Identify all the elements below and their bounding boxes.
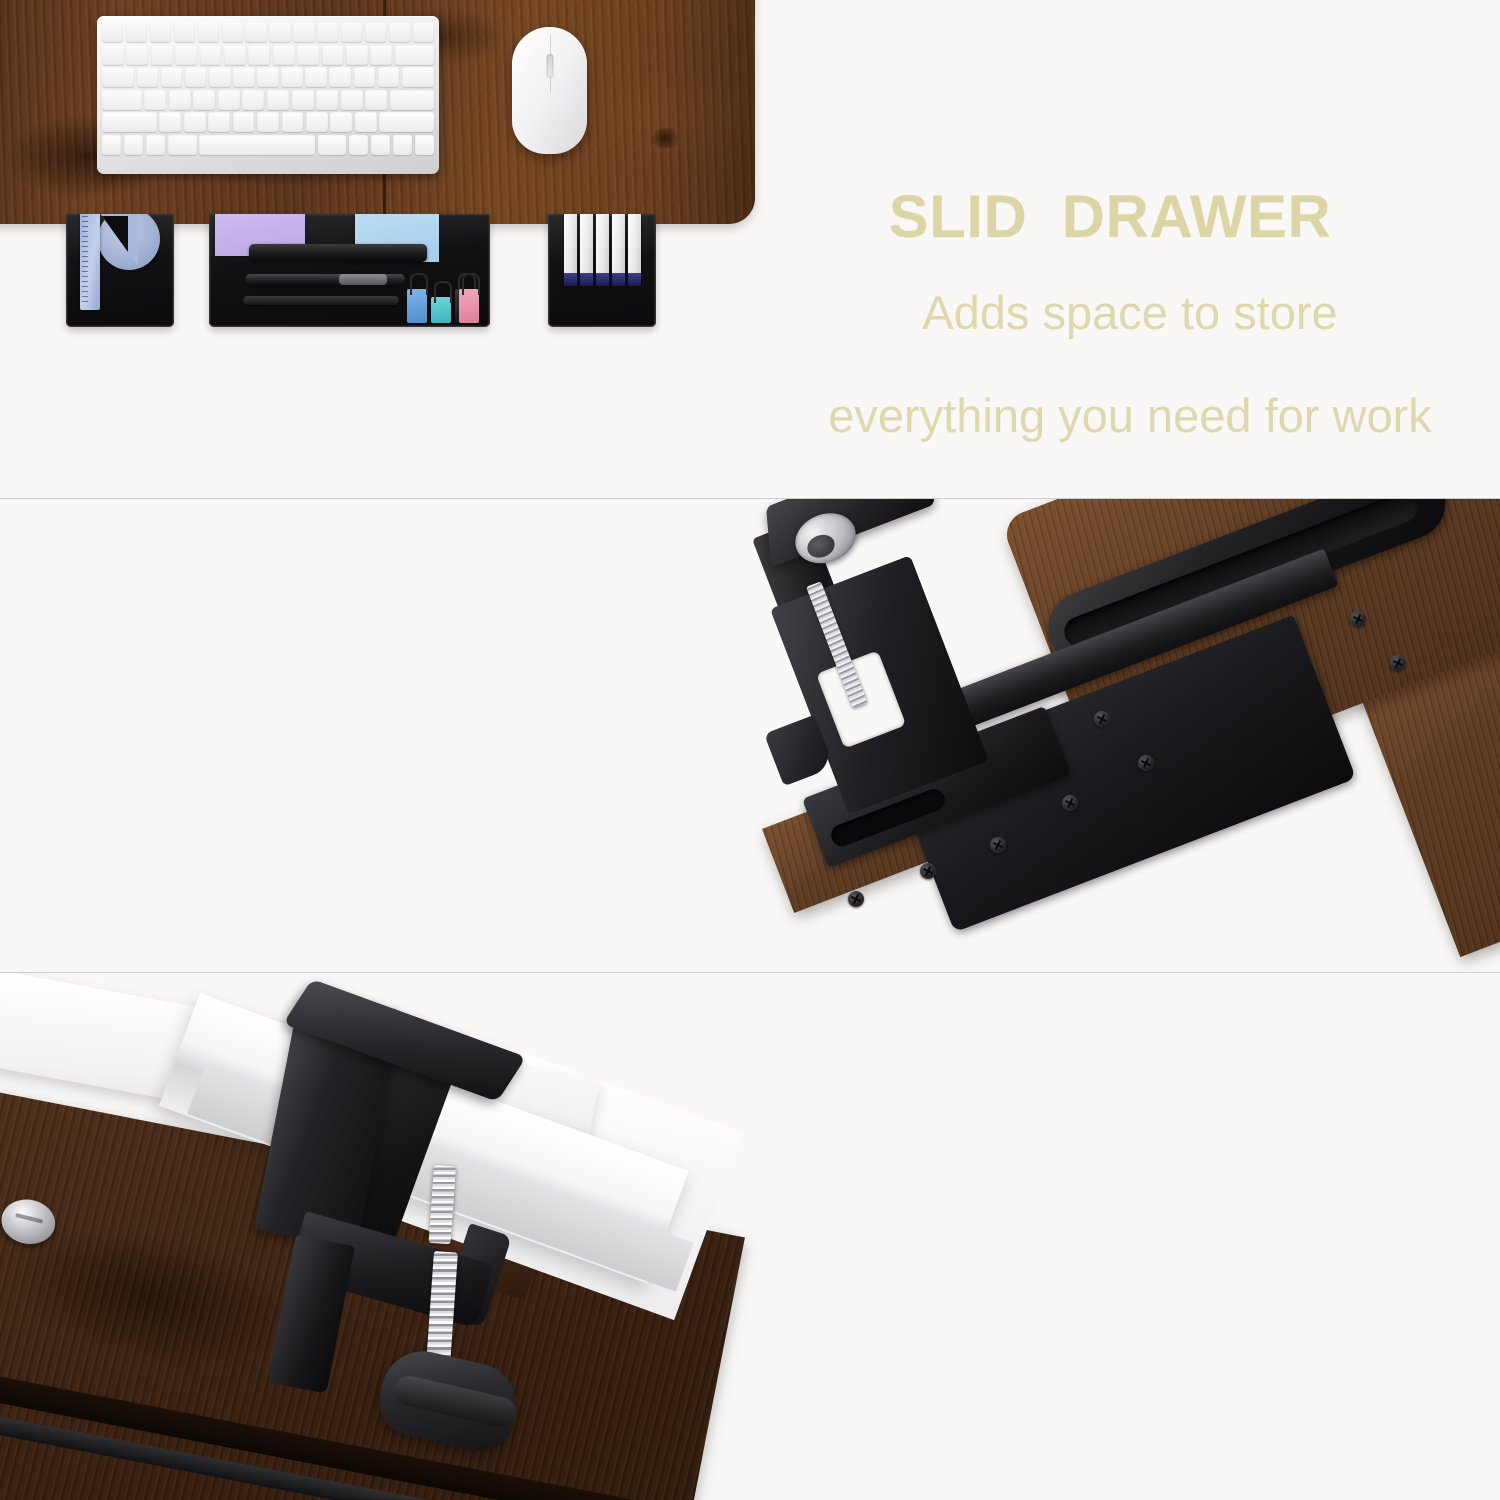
set-square-cutout — [102, 216, 128, 252]
clip-arm — [410, 273, 428, 295]
binder-clip-blue — [407, 289, 427, 323]
keyboard-row — [102, 112, 434, 132]
wood-knot — [648, 128, 682, 148]
product-feature-collage: SLID DRAWER Adds space to store everythi… — [0, 0, 1500, 1500]
desk-topview-photo — [0, 0, 760, 360]
phillips-screw — [1138, 755, 1154, 771]
keyboard-row — [102, 67, 434, 87]
white-marker — [596, 214, 609, 286]
keyboard-row — [102, 135, 434, 155]
panel-clamp-mount: C CLAMP MOUNT Easy to install No tools r… — [0, 973, 1500, 1500]
subline-slid-drawer-1: Adds space to store — [760, 277, 1500, 350]
phillips-screw — [920, 863, 936, 879]
phillips-screw — [990, 837, 1006, 853]
phillips-screw — [848, 891, 864, 907]
black-pen — [249, 244, 427, 262]
white-mouse — [512, 27, 587, 154]
pen-grip — [339, 274, 387, 285]
headline-slid-drawer: SLID DRAWER — [760, 186, 1500, 247]
marker-cap — [564, 273, 577, 286]
white-marker — [564, 214, 577, 286]
panel-glide-track: SMOOTH GLIDE TRACKE Easily pulled out an… — [0, 499, 1500, 972]
drawer-tray-right — [548, 214, 656, 327]
marker-cap — [596, 273, 609, 286]
phillips-screw — [1390, 655, 1406, 671]
clip-arm — [462, 273, 480, 295]
drawer-tray-center — [209, 214, 490, 327]
binder-clip-teal — [431, 297, 451, 323]
phillips-screw — [1094, 711, 1110, 727]
binder-clip-pink — [459, 289, 479, 323]
phillips-screw — [1062, 795, 1078, 811]
white-keyboard — [97, 16, 439, 174]
subline-slid-drawer-2: everything you need for work — [760, 380, 1500, 453]
marker-cap — [580, 273, 593, 286]
white-marker — [628, 214, 641, 286]
keyboard-row — [102, 22, 434, 42]
panel-slid-drawer: SLID DRAWER Adds space to store everythi… — [0, 0, 1500, 498]
phillips-screw — [1350, 611, 1366, 627]
ruler — [80, 214, 100, 310]
clip-arm — [434, 281, 452, 303]
mouse-scroll-wheel — [546, 54, 553, 78]
keyboard-row — [102, 90, 434, 110]
white-marker — [580, 214, 593, 286]
marker-cap — [612, 273, 625, 286]
drawer-tray-left — [66, 214, 174, 327]
ruler-ticks — [82, 216, 88, 306]
desk-clamp-install-photo — [0, 973, 700, 1500]
ruler-protractor-set — [80, 214, 158, 312]
black-pen — [243, 296, 399, 305]
clamp-rail-closeup-photo — [742, 499, 1500, 972]
white-marker — [612, 214, 625, 286]
marker-cap — [628, 273, 641, 286]
caption-slid-drawer: SLID DRAWER Adds space to store everythi… — [760, 186, 1500, 453]
keyboard-row — [102, 45, 434, 65]
